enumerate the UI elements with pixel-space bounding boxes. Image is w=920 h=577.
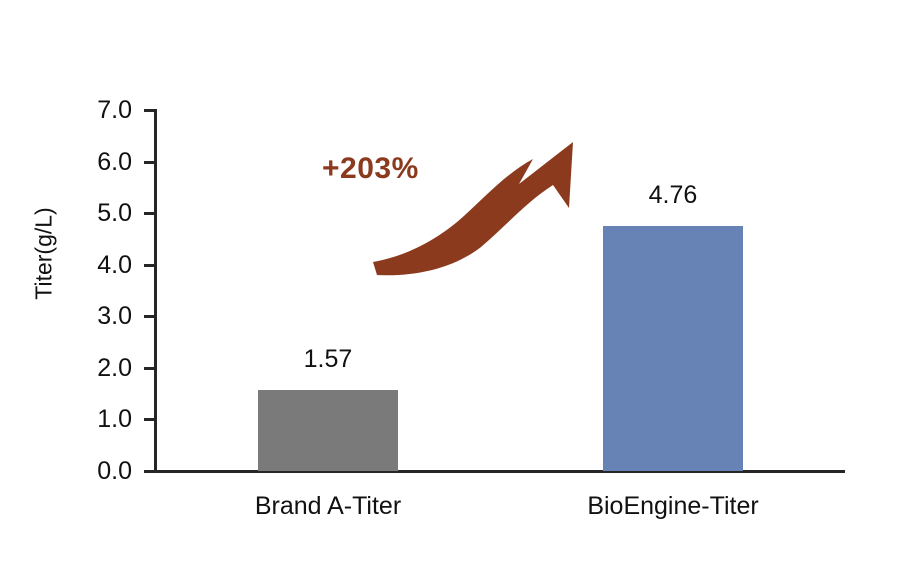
y-axis-tick xyxy=(144,315,155,318)
bar-value-label: 4.76 xyxy=(563,183,783,208)
y-axis-tick xyxy=(144,161,155,164)
y-axis-tick xyxy=(144,418,155,421)
growth-percentage-label: +203% xyxy=(322,152,419,186)
y-axis-tick xyxy=(144,470,155,473)
y-axis-tick xyxy=(144,212,155,215)
x-axis-category-label: BioEngine-Titer xyxy=(523,494,823,519)
y-axis-title: Titer(g/L) xyxy=(31,154,58,354)
bar-value-label: 1.57 xyxy=(218,347,438,372)
y-axis-tick-label: 0.0 xyxy=(72,459,132,484)
y-axis-tick xyxy=(144,367,155,370)
x-axis-category-label: Brand A-Titer xyxy=(178,494,478,519)
bar-2[interactable] xyxy=(603,226,743,471)
y-axis-tick-label: 5.0 xyxy=(72,201,132,226)
y-axis-tick xyxy=(144,264,155,267)
chart-canvas: Titer(g/L) 0.01.02.03.04.05.06.07.0 1.57… xyxy=(0,0,920,577)
y-axis-tick-label: 1.0 xyxy=(72,407,132,432)
y-axis-tick-label: 3.0 xyxy=(72,304,132,329)
bar-1[interactable] xyxy=(258,390,398,471)
y-axis-tick-label: 7.0 xyxy=(72,98,132,123)
y-axis-tick xyxy=(144,109,155,112)
y-axis-tick-label: 2.0 xyxy=(72,356,132,381)
y-axis-tick-label: 4.0 xyxy=(72,253,132,278)
y-axis-tick-label: 6.0 xyxy=(72,150,132,175)
